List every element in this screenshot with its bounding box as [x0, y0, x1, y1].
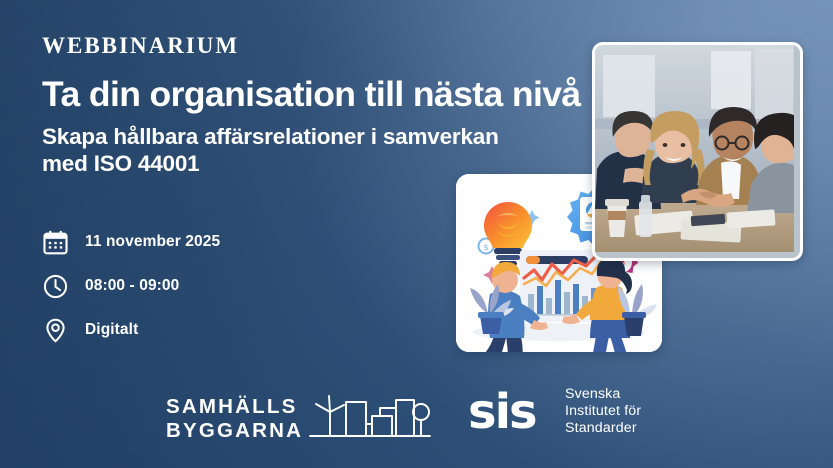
banner-text-block: WEBBINARIUM Ta din organisation till näs… [42, 34, 602, 178]
clock-icon [40, 271, 70, 301]
sis-tagline-line-2: Institutet för [565, 403, 641, 420]
sis-tagline-line-3: Standarder [565, 420, 641, 437]
sis-wordmark-icon: sis [468, 388, 554, 441]
event-detail-location: Digitalt [40, 310, 220, 350]
samhallsbyggarna-wordmark: SAMHÄLLS BYGGARNA [166, 395, 303, 443]
webinar-banner: WEBBINARIUM Ta din organisation till näs… [0, 0, 833, 468]
svg-text:$: $ [483, 243, 488, 252]
sis-tagline: Svenska Institutet för Standarder [565, 386, 641, 441]
samhallsbyggarna-line-1: SAMHÄLLS [166, 395, 303, 419]
page-subtitle: Skapa hållbara affärsrelationer i samver… [42, 123, 547, 178]
calendar-icon [40, 227, 70, 257]
event-location-value: Digitalt [85, 321, 138, 339]
event-time-value: 08:00 - 09:00 [85, 277, 179, 295]
event-detail-time: 08:00 - 09:00 [40, 266, 220, 306]
event-detail-date: 11 november 2025 [40, 222, 220, 262]
kicker-label: WEBBINARIUM [42, 34, 602, 57]
location-pin-icon [40, 315, 70, 345]
samhallsbyggarna-line-2: BYGGARNA [166, 419, 303, 443]
page-title: Ta din organisation till nästa nivå [42, 75, 602, 113]
logo-bar: SAMHÄLLS BYGGARNA [0, 384, 833, 450]
svg-text:sis: sis [468, 388, 536, 436]
event-details: 11 november 2025 08:00 - 09:00 Digitalt [40, 222, 220, 354]
city-skyline-mark [308, 390, 432, 447]
logo-sis: sis Svenska Institutet för Standarder [468, 386, 641, 441]
sis-tagline-line-1: Svenska [565, 386, 641, 403]
subtitle-line-2: med ISO 44001 [42, 151, 200, 176]
business-meeting-photo [592, 42, 803, 261]
logo-samhallsbyggarna: SAMHÄLLS BYGGARNA [166, 390, 432, 447]
subtitle-line-1: Skapa hållbara affärsrelationer i samver… [42, 124, 499, 149]
event-date-value: 11 november 2025 [85, 233, 220, 251]
